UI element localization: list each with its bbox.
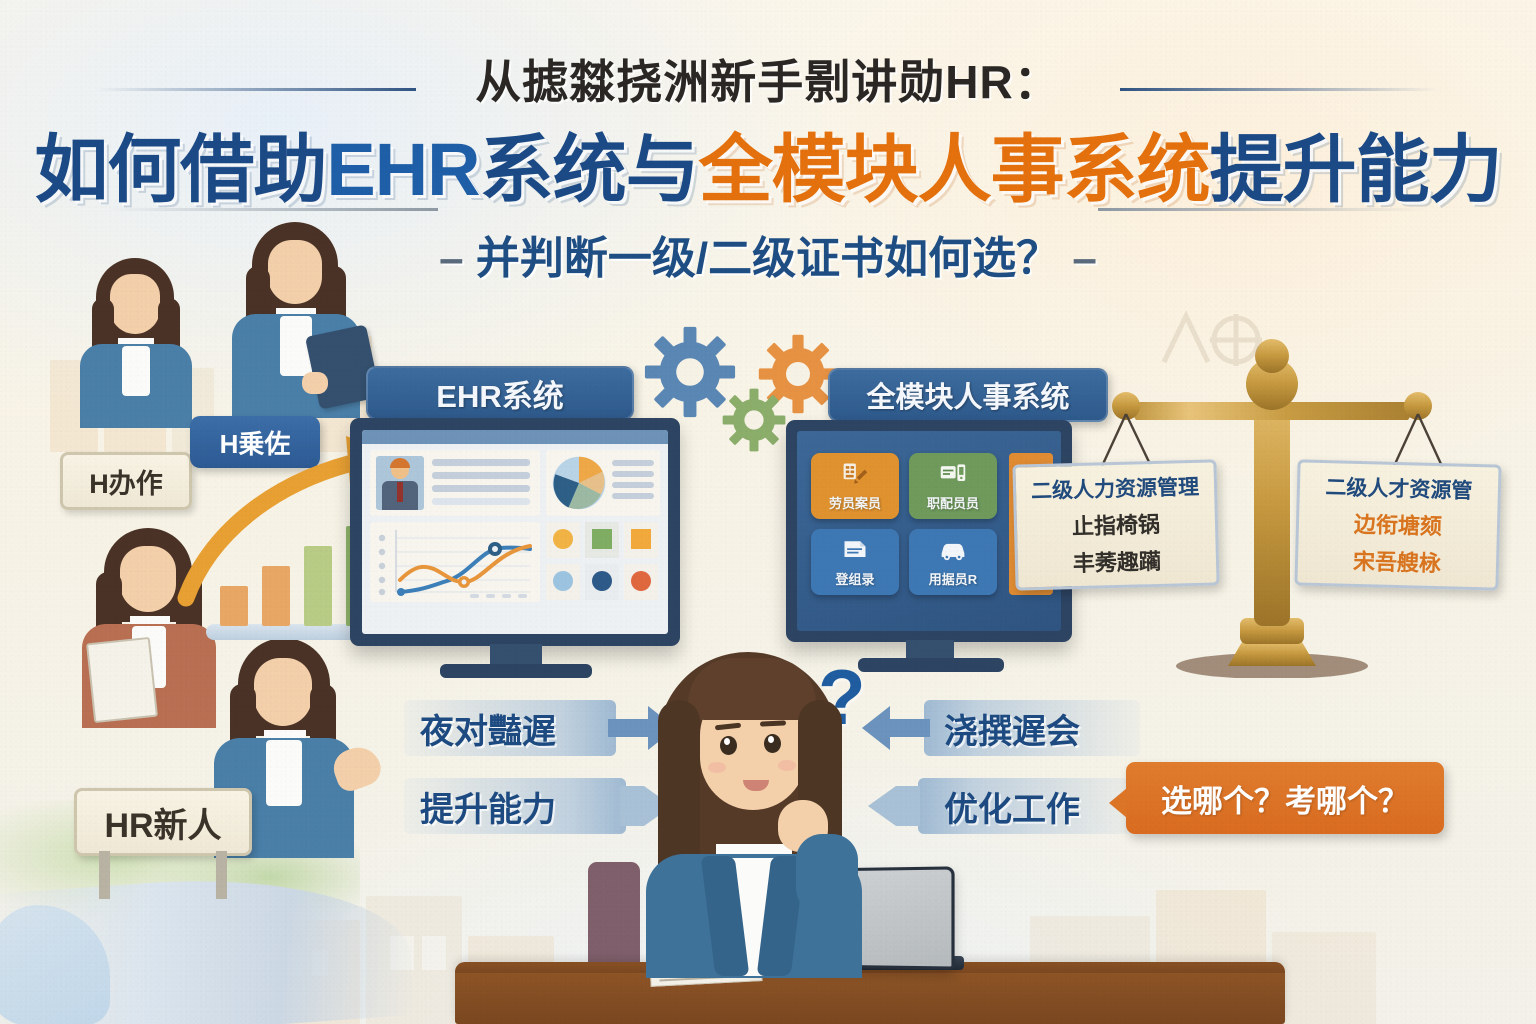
ehr-monitor-base [440,664,592,678]
tile-1[interactable]: 职配员员 [909,453,997,519]
tile-0[interactable]: 劳员案员 [811,453,899,519]
flow-right-top-label: 浇撰遅会 [944,704,1080,753]
sign-hr-newbie-label: HR新人 [104,798,221,847]
headline-part-2: 系统与 [480,128,699,211]
choice-callout: 选哪个？考哪个？ [1126,762,1444,834]
line-chart-card [370,522,540,602]
person-thinking-hr [612,648,912,978]
gear-green-icon [722,388,786,452]
pie-chart-card [546,450,660,516]
ehr-system-banner-label: EHR系统 [436,371,563,416]
scale-card-left-line2: 丰莠趣躏 [1073,544,1162,578]
subtitle-text: 并判断一级/二级证书如何选？ [476,234,1060,283]
headline-highlight: 全模块人事系统 [699,128,1210,211]
swatch-grid-card [546,522,660,602]
profile-card [370,450,540,516]
swatch-3 [553,571,573,591]
tile-3-label: 用据员R [929,569,977,588]
sign-hr-work-label: H办作 [89,462,163,501]
phone-icon [938,460,968,488]
tile-3[interactable]: 用据员R [909,529,997,595]
tile-2-label: 登组录 [835,569,874,588]
scale-card-left-title: 二级人力资源管理 [1031,471,1200,505]
wrench-icon [840,460,870,488]
subtitle-dash-right: – [1072,234,1096,283]
background-compass-icon [1150,300,1270,390]
headline-part-1: 如何借助 [34,128,326,211]
scale-card-right: 二级人才资源管 边衔塘颏 宋吾艘栐 [1294,459,1501,590]
document-held-icon [86,637,158,723]
person-hr-staff-2 [218,222,378,418]
ehr-system-banner: EHR系统 [366,366,634,420]
tile-0-label: 劳员案员 [829,493,881,512]
page-title: 如何借助EHR系统与全模块人事系统提升能力 [0,110,1536,217]
kicker-text: 从摅㵘挠洲新手㔀讲勋HR： [0,46,1536,112]
headline-ehr: EHR [326,128,479,211]
subtitle-rule-left [108,208,438,211]
scale-card-right-title: 二级人才资源管 [1325,471,1473,505]
scale-card-right-line1: 边衔塘颏 [1354,507,1443,541]
flow-left-bottom-label: 提升能力 [420,782,556,831]
pie-chart [551,455,607,511]
line-chart [370,522,540,602]
document-icon [840,536,870,564]
choice-callout-label: 选哪个？考哪个？ [1161,776,1409,821]
subtitle-rule-right [1098,208,1428,211]
hr-system-banner-label: 全模块人事系统 [866,374,1069,416]
scale-card-right-line2: 宋吾艘栐 [1353,544,1442,578]
swatch-1 [592,529,612,549]
tile-2[interactable]: 登组录 [811,529,899,595]
car-icon [937,536,969,564]
swatch-0 [553,529,573,549]
subtitle-dash-left: – [439,234,463,283]
scale-card-left-line1: 止指椅锅 [1072,507,1161,541]
tile-1-label: 职配员员 [927,493,979,512]
avatar [376,456,424,510]
swatch-4 [592,571,612,591]
flow-left-top-label: 夜对豔遅 [420,704,556,753]
headline-part-3: 提升能力 [1210,128,1502,211]
scale-card-left: 二级人力资源管理 止指椅锅 丰莠趣躏 [1012,459,1219,590]
ehr-monitor [350,418,680,646]
swatch-2 [631,529,651,549]
ehr-dashboard-screen [362,430,668,634]
person-hr-staff-1 [66,258,206,428]
swatch-5 [631,571,651,591]
flow-right-bottom-label: 优化工作 [944,782,1080,831]
sign-hr-newbie: HR新人 [74,788,252,856]
infographic-canvas: 从摅㵘挠洲新手㔀讲勋HR： 如何借助EHR系统与全模块人事系统提升能力 – 并判… [0,0,1536,1024]
